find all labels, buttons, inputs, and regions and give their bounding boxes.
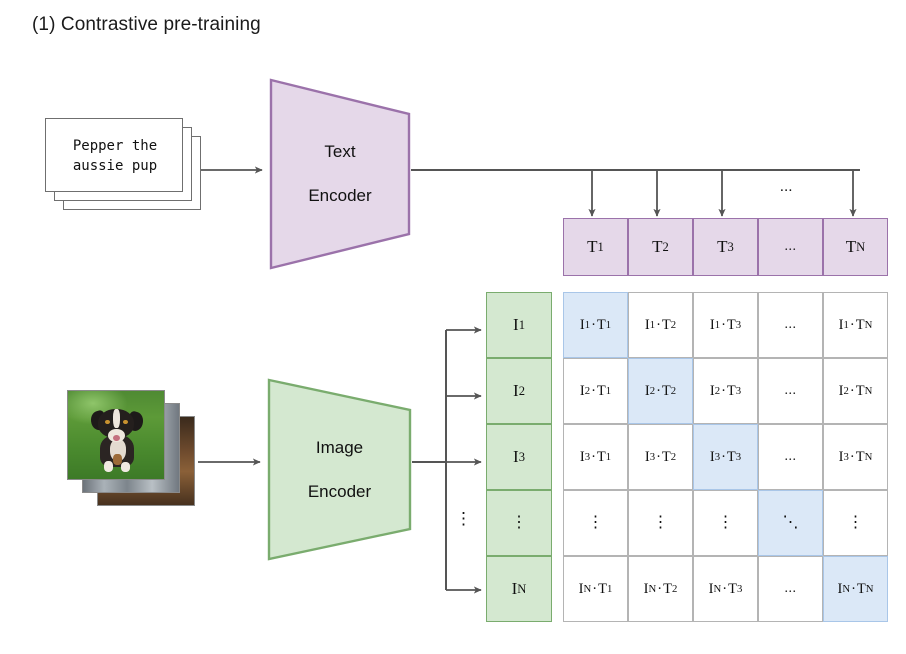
similarity-cell-r4-c5[interactable]: ⋮ [823,490,888,556]
similarity-cell-r4-c2[interactable]: ⋮ [628,490,693,556]
similarity-cell-r4-c3[interactable]: ⋮ [693,490,758,556]
diagram-canvas: (1) Contrastive pre-training [0,0,906,654]
similarity-cell-r2-c4[interactable]: ... [758,358,823,424]
similarity-cell-r1-c3[interactable]: I1·T3 [693,292,758,358]
similarity-cell-r4-c4[interactable]: ⋱ [758,490,823,556]
text-encoder-block[interactable]: Text Encoder [269,78,411,270]
text-encoder-label-line-2: Encoder [308,185,371,207]
caption-text: Pepper the aussie pup [46,119,184,193]
similarity-cell-r5-c5[interactable]: IN·TN [823,556,888,622]
caption-card-stack: Pepper the aussie pup [45,118,195,204]
similarity-cell-r2-c2[interactable]: I2·T2 [628,358,693,424]
similarity-cell-r5-c3[interactable]: IN·T3 [693,556,758,622]
photo-front-puppy [67,390,165,480]
text-embedding-cell-2[interactable]: T2 [628,218,693,276]
image-embedding-cell-1[interactable]: I1 [486,292,552,358]
similarity-cell-r2-c5[interactable]: I2·TN [823,358,888,424]
similarity-cell-r5-c2[interactable]: IN·T2 [628,556,693,622]
image-encoder-label: Image Encoder [308,415,371,525]
similarity-cell-r1-c4[interactable]: ... [758,292,823,358]
caption-line-2: aussie pup [73,156,157,176]
similarity-cell-r3-c3[interactable]: I3·T3 [693,424,758,490]
text-embedding-cell-1[interactable]: T1 [563,218,628,276]
text-encoder-label-line-1: Text [308,141,371,163]
similarity-cell-r3-c2[interactable]: I3·T2 [628,424,693,490]
similarity-cell-r1-c5[interactable]: I1·TN [823,292,888,358]
photo-stack [67,390,197,508]
text-embedding-cell-5[interactable]: TN [823,218,888,276]
image-embedding-cell-3[interactable]: I3 [486,424,552,490]
image-fanout-ellipsis: ⋮ [455,514,472,524]
text-encoder-label: Text Encoder [308,119,371,229]
similarity-cell-r5-c1[interactable]: IN·T1 [563,556,628,622]
similarity-cell-r3-c1[interactable]: I3·T1 [563,424,628,490]
image-embedding-cell-2[interactable]: I2 [486,358,552,424]
similarity-cell-r1-c2[interactable]: I1·T2 [628,292,693,358]
similarity-cell-r3-c5[interactable]: I3·TN [823,424,888,490]
page-title: (1) Contrastive pre-training [32,14,261,36]
text-embedding-cell-4[interactable]: ... [758,218,823,276]
similarity-cell-r2-c1[interactable]: I2·T1 [563,358,628,424]
image-encoder-fanout [412,330,481,590]
similarity-cell-r3-c4[interactable]: ... [758,424,823,490]
similarity-cell-r4-c1[interactable]: ⋮ [563,490,628,556]
caption-card-front: Pepper the aussie pup [45,118,183,192]
similarity-cell-r1-c1[interactable]: I1·T1 [563,292,628,358]
image-embedding-cell-4[interactable]: ⋮ [486,490,552,556]
text-fanout-ellipsis: ... [780,179,793,196]
image-encoder-label-line-1: Image [308,437,371,459]
similarity-cell-r5-c4[interactable]: ... [758,556,823,622]
image-encoder-block[interactable]: Image Encoder [267,378,412,561]
image-encoder-label-line-2: Encoder [308,481,371,503]
similarity-cell-r2-c3[interactable]: I2·T3 [693,358,758,424]
image-embedding-cell-5[interactable]: IN [486,556,552,622]
text-embedding-cell-3[interactable]: T3 [693,218,758,276]
caption-line-1: Pepper the [73,136,157,156]
